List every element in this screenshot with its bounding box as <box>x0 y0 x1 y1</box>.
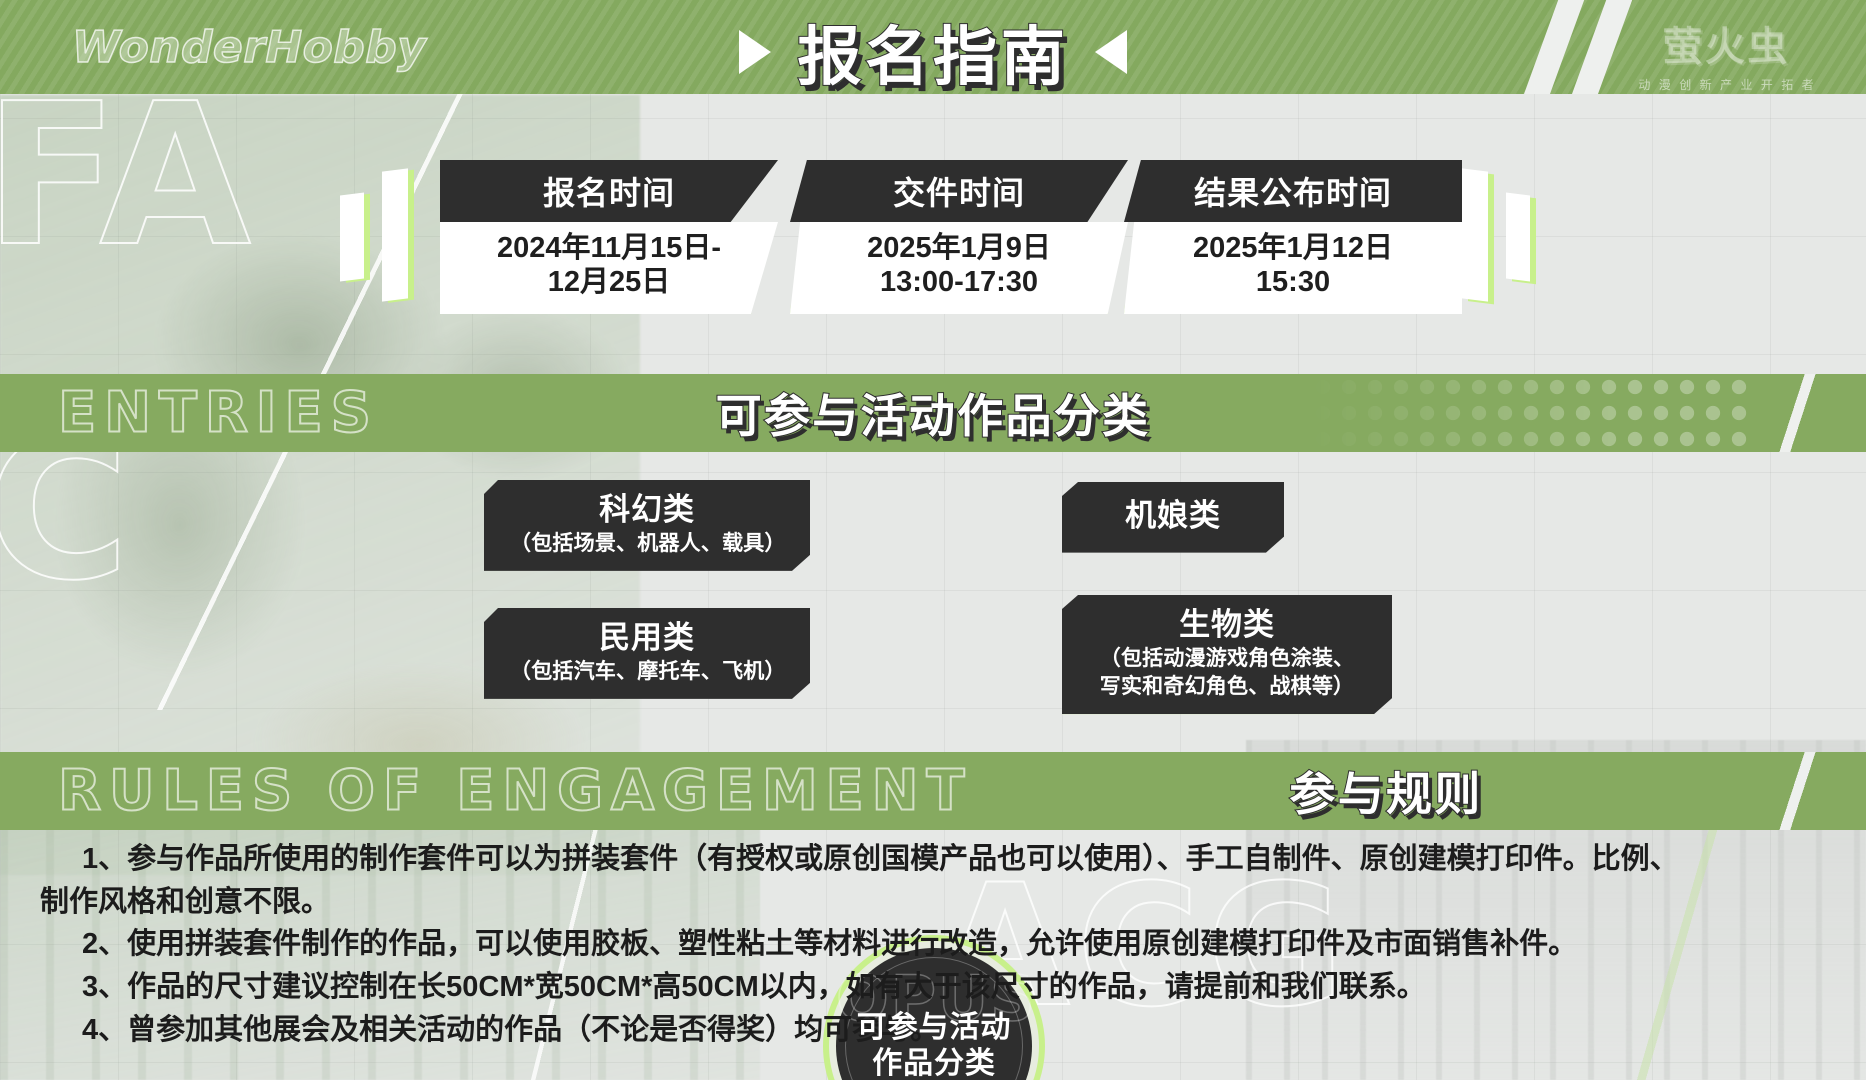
category-tag-scifi[interactable]: 科幻类 （包括场景、机器人、载具） <box>484 480 810 571</box>
schedule-card-results: 结果公布时间 2025年1月12日 15:30 <box>1124 160 1462 314</box>
firefly-logo: 萤火虫 动漫创新产业开拓者 <box>1630 14 1822 93</box>
firefly-logo-title: 萤火虫 <box>1630 14 1822 72</box>
schedule-card-submission: 交件时间 2025年1月9日 13:00-17:30 <box>790 160 1128 314</box>
play-triangle-left-icon <box>1095 30 1127 74</box>
category-tag-name: 科幻类 <box>510 492 784 529</box>
rule-item-1-line-1: 1、参与作品所使用的制作套件可以为拼装套件（有授权或原创国模产品也可以使用）、手… <box>40 838 1826 881</box>
rules-banner: RULES OF ENGAGEMENT 参与规则 <box>0 752 1866 830</box>
decor-bar-right-large <box>1462 170 1488 300</box>
rule-item-1-line-2: 制作风格和创意不限。 <box>40 881 1826 924</box>
schedule-card-body: 2024年11月15日- 12月25日 <box>440 222 778 314</box>
schedule-card-line1: 2025年1月9日 <box>867 232 1051 266</box>
category-tag-name: 机娘类 <box>1088 498 1258 535</box>
category-tag-note-line2: 写实和奇幻角色、战棋等） <box>1088 674 1366 700</box>
category-tag-creature[interactable]: 生物类 （包括动漫游戏角色涂装、 写实和奇幻角色、战棋等） <box>1062 595 1392 714</box>
entries-banner-title: 可参与活动作品分类 <box>0 380 1866 446</box>
decor-bar-right-small <box>1506 194 1530 280</box>
schedule-card-line2: 15:30 <box>1256 266 1330 300</box>
firefly-logo-subtitle: 动漫创新产业开拓者 <box>1630 76 1822 93</box>
schedule-card-title: 结果公布时间 <box>1124 160 1462 222</box>
schedule-card-line2: 12月25日 <box>548 266 671 300</box>
play-triangle-right-icon <box>739 30 771 74</box>
schedule-card-title: 报名时间 <box>440 160 778 222</box>
schedule-card-line1: 2025年1月12日 <box>1193 232 1393 266</box>
rule-item-2: 2、使用拼装套件制作的作品，可以使用胶板、塑性粘土等材料进行改造，允许使用原创建… <box>40 923 1826 966</box>
decor-bar-left-large <box>382 170 408 300</box>
circle-line-2: 作品分类 <box>872 1046 996 1080</box>
schedule-card-line2: 13:00-17:30 <box>880 266 1038 300</box>
schedule-card-body: 2025年1月9日 13:00-17:30 <box>790 222 1128 314</box>
schedule-card-line1: 2024年11月15日- <box>497 232 721 266</box>
category-tag-note: （包括汽车、摩托车、飞机） <box>510 659 784 685</box>
rules-banner-english: RULES OF ENGAGEMENT <box>58 759 972 824</box>
schedule-card-title: 交件时间 <box>790 160 1128 222</box>
category-tag-note: （包括场景、机器人、载具） <box>510 531 784 557</box>
page-title: 报名指南 <box>797 6 1068 94</box>
category-tag-mecha-girl[interactable]: 机娘类 <box>1062 482 1284 553</box>
category-tag-name: 民用类 <box>510 620 784 657</box>
category-tag-name: 生物类 <box>1088 607 1366 644</box>
category-tag-civil[interactable]: 民用类 （包括汽车、摩托车、飞机） <box>484 608 810 699</box>
page-header: WonderHobby 报名指南 萤火虫 动漫创新产业开拓者 <box>0 0 1866 94</box>
decor-bar-left-small <box>340 194 364 280</box>
category-tag-note-line1: （包括动漫游戏角色涂装、 <box>1088 646 1366 672</box>
schedule-row: 报名时间 2024年11月15日- 12月25日 交件时间 2025年1月9日 … <box>0 150 1866 330</box>
header-title-group: 报名指南 <box>0 6 1866 94</box>
rules-banner-title: 参与规则 <box>906 758 1866 824</box>
rule-item-3: 3、作品的尺寸建议控制在长50CM*宽50CM*高50CM以内，如有大于该尺寸的… <box>40 966 1826 1009</box>
category-group: 科幻类 （包括场景、机器人、载具） 民用类 （包括汽车、摩托车、飞机） OPUS… <box>0 460 1866 746</box>
entries-banner: ENTRIES 可参与活动作品分类 <box>0 374 1866 452</box>
schedule-card-registration: 报名时间 2024年11月15日- 12月25日 <box>440 160 778 314</box>
schedule-card-body: 2025年1月12日 15:30 <box>1124 222 1462 314</box>
circle-line-1: 可参与活动 <box>857 1010 1012 1046</box>
